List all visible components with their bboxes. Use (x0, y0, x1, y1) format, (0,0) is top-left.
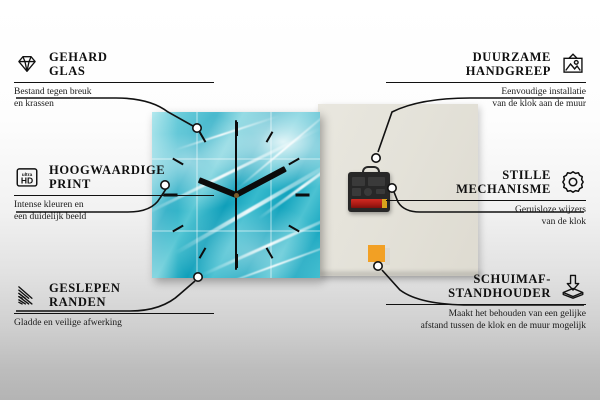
svg-text:HD: HD (21, 176, 33, 186)
feature-title: HOOGWAARDIGE PRINT (49, 163, 165, 191)
feature-stille-mechanisme: STILLE MECHANISME Geruisloze wijzers van… (386, 168, 586, 228)
feature-divider (386, 82, 586, 83)
feature-duurzame-handgreep: DUURZAME HANDGREEP Eenvoudige installati… (386, 50, 586, 110)
foam-spacer-pad-side (385, 248, 390, 265)
feature-title: STILLE MECHANISME (456, 168, 551, 196)
product-infographic: GEHARD GLAS Bestand tegen breuk en krass… (0, 0, 600, 400)
press-pad-icon (560, 273, 586, 299)
feature-gehard-glas: GEHARD GLAS Bestand tegen breuk en krass… (14, 50, 214, 110)
framed-picture-icon (560, 51, 586, 77)
clock-center-hub (234, 193, 239, 198)
ultra-hd-icon: ultra HD (14, 164, 40, 190)
feature-divider (14, 313, 214, 314)
feature-description: Maakt het behouden van een gelijke afsta… (386, 309, 586, 332)
feature-description: Bestand tegen breuk en krassen (14, 87, 214, 110)
feature-divider (14, 195, 214, 196)
feature-divider (386, 304, 586, 305)
gear-icon (560, 169, 586, 195)
feature-description: Gladde en veilige afwerking (14, 318, 214, 330)
feature-geslepen-randen: GESLEPEN RANDEN Gladde en veilige afwerk… (14, 281, 214, 330)
feature-description: Intense kleuren en een duidelijk beeld (14, 200, 214, 223)
feature-schuimaf-standhouder: SCHUIMAF- STANDHOUDER Maakt het behouden… (386, 272, 586, 332)
feature-title: DUURZAME HANDGREEP (466, 50, 551, 78)
feature-description: Geruisloze wijzers van de klok (386, 205, 586, 228)
feature-title: SCHUIMAF- STANDHOUDER (448, 272, 551, 300)
clock-mechanism (348, 172, 390, 212)
diamond-icon (14, 51, 40, 77)
beveled-edge-icon (14, 282, 40, 308)
foam-spacer-pad (368, 245, 385, 262)
feature-title: GEHARD GLAS (49, 50, 107, 78)
mechanism-hanger-hook (362, 166, 380, 176)
feature-divider (386, 200, 586, 201)
feature-hoogwaardige-print: ultra HD HOOGWAARDIGE PRINT Intense kleu… (14, 163, 214, 223)
feature-description: Eenvoudige installatie van de klok aan d… (386, 87, 586, 110)
feature-title: GESLEPEN RANDEN (49, 281, 121, 309)
feature-divider (14, 82, 214, 83)
mechanism-battery (351, 199, 387, 208)
